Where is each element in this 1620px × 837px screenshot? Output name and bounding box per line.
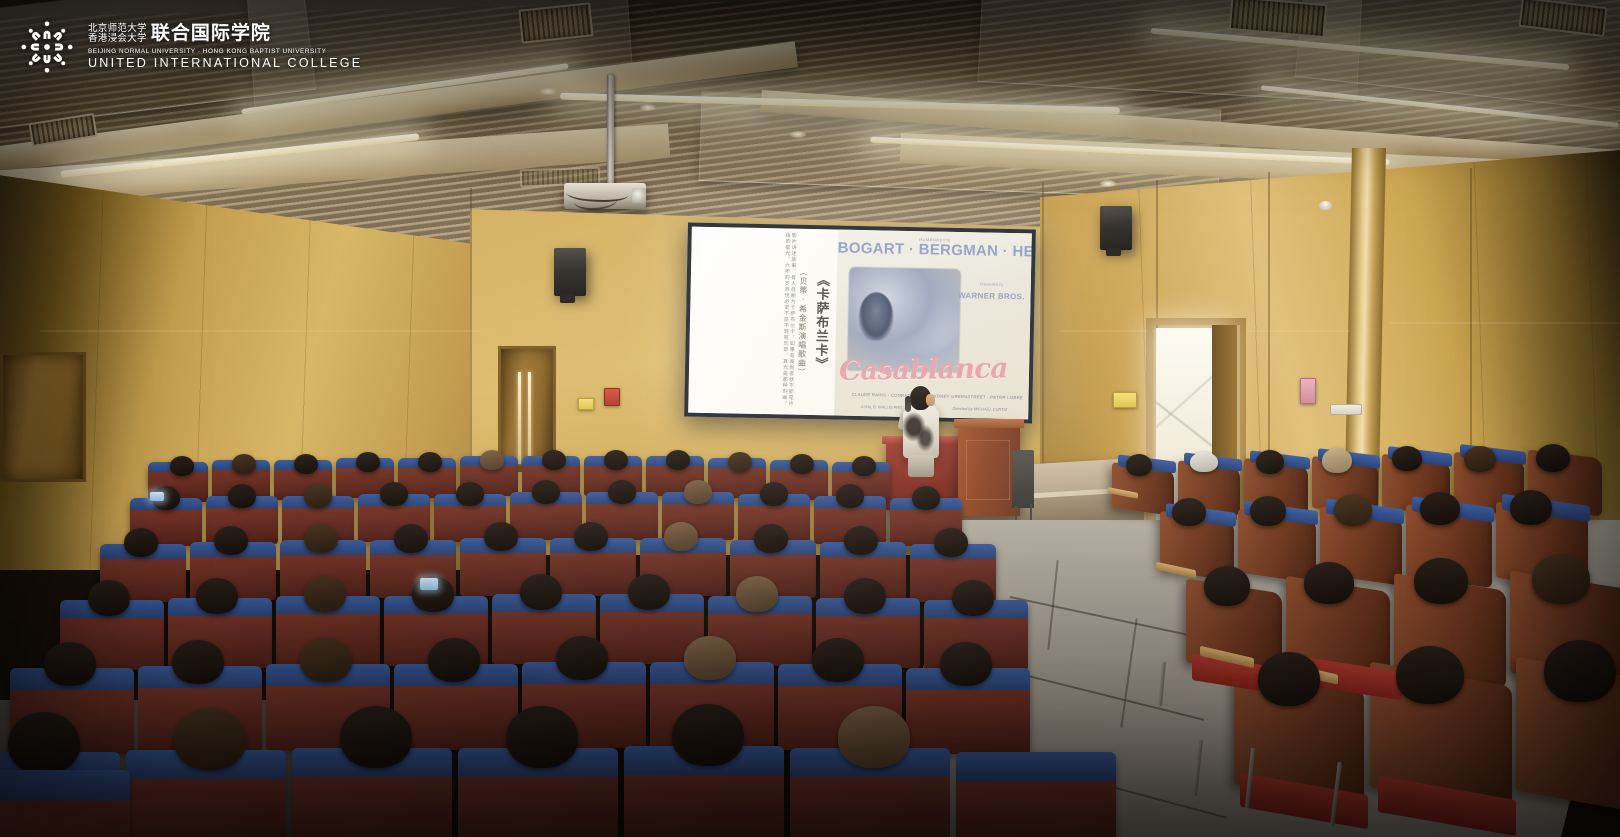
audience-head-with-cap [1190, 452, 1218, 472]
audience-head [300, 638, 352, 682]
audience-head [394, 524, 428, 553]
wall-seam [1390, 322, 1620, 324]
audience-head [8, 712, 80, 774]
watermark-chinese-main: 联合国际学院 [151, 24, 271, 43]
audience-head [608, 480, 636, 504]
watermark-english-main: UNITED INTERNATIONAL COLLEGE [88, 57, 362, 70]
audience-head [1464, 446, 1496, 472]
audience-head [1414, 558, 1468, 604]
audience-head [628, 574, 670, 610]
audience-head [418, 452, 442, 472]
projector-mount-pole [607, 75, 614, 185]
seat-headrest [956, 752, 1116, 781]
audience-head [520, 574, 562, 610]
watermark-english-small: BEIJING NORMAL UNIVERSITY · HONG KONG BA… [88, 49, 362, 56]
poster-title-text: Casablanca [839, 351, 1032, 387]
presenter-face [926, 394, 935, 406]
wall-speaker-icon [554, 248, 586, 296]
projector-lens-icon [632, 188, 646, 203]
audience-head [1256, 450, 1284, 474]
audience-head [88, 580, 130, 616]
audience-head [736, 576, 778, 612]
presentation-slide: 影片讲述故事，有人自喻为卡萨布兰卡，如果有高尚者就不能是片段的星光，六年的岁月也… [688, 227, 1032, 420]
audience-head [838, 706, 910, 768]
audience-head [790, 454, 814, 474]
audience-head [556, 636, 608, 680]
seat-leg [1193, 740, 1203, 796]
audience-head [1544, 640, 1616, 702]
audience-head [728, 452, 752, 472]
audience-head [294, 454, 318, 474]
audience-head [1420, 492, 1460, 525]
audience-head [232, 454, 256, 474]
seat-headrest [0, 770, 130, 801]
power-outlet-icon[interactable] [1330, 404, 1362, 415]
phone-screen-glow [420, 578, 438, 590]
poster-face-silhouette [859, 292, 894, 341]
audience-head [852, 456, 876, 476]
audience-head [684, 480, 712, 504]
audience-head [1126, 454, 1152, 476]
audience-head [1204, 566, 1250, 606]
audience-head [836, 484, 864, 508]
audience-head [1334, 494, 1372, 526]
audience-head [44, 642, 96, 686]
audience-head [174, 708, 246, 770]
casablanca-poster: HUMPHREY'S BOGART · BERGMAN · HENREID Pr… [834, 230, 1031, 420]
audience-head [574, 522, 608, 551]
audience-head [940, 642, 992, 686]
security-camera-icon [1319, 201, 1332, 210]
watermark-text: 北京师范大学 香港浸会大学 联合国际学院 BEIJING NORMAL UNIV… [88, 24, 362, 70]
audience-head [1532, 554, 1590, 604]
audience-head [484, 522, 518, 551]
audience-head [1536, 444, 1570, 472]
projection-screen: 影片讲述故事，有人自喻为卡萨布兰卡，如果有高尚者就不能是片段的星光，六年的岁月也… [684, 223, 1036, 424]
seat-row-front[interactable] [956, 752, 1116, 837]
audience-head [356, 452, 380, 472]
slide-body-text: 影片讲述故事，有人自喻为卡萨布兰卡，如果有高尚者就不能是片段的星光，六年的岁月也… [781, 232, 797, 411]
watermark: 北京师范大学 香港浸会大学 联合国际学院 BEIJING NORMAL UNIV… [18, 18, 362, 76]
wall-speaker-icon [1100, 206, 1132, 250]
audience-head [214, 526, 248, 555]
uic-snowflake-logo-icon [18, 18, 76, 76]
audience-head [506, 706, 578, 768]
lectern-top [954, 419, 1024, 428]
audience-head [672, 704, 744, 766]
audience-head [1172, 498, 1206, 526]
poster-presented-label: Presented by [958, 282, 1025, 288]
warning-sign-icon [1113, 392, 1137, 408]
audience-head [754, 524, 788, 553]
audience-head [664, 522, 698, 551]
slide-subtitle-text: （贝蒂·希金斯演唱歌曲） [796, 267, 809, 376]
wall-seam [40, 330, 480, 332]
audience-head [844, 578, 886, 614]
slide-text-column: 影片讲述故事，有人自喻为卡萨布兰卡，如果有高尚者就不能是片段的星光，六年的岁月也… [688, 227, 838, 416]
downlight-icon [540, 88, 556, 95]
audience-head [934, 528, 968, 557]
downlight-icon [790, 131, 806, 138]
audience-head [604, 450, 628, 470]
audience-head [1322, 448, 1352, 473]
audience-head [952, 580, 994, 616]
audience-head [428, 638, 480, 682]
audience-head [542, 450, 566, 470]
audience-head [532, 480, 560, 504]
audience-head [456, 482, 484, 506]
auditorium-photo: 影片讲述故事，有人自喻为卡萨布兰卡，如果有高尚者就不能是片段的星光，六年的岁月也… [0, 0, 1620, 837]
handheld-microphone-icon [905, 396, 911, 412]
audience-head [1510, 490, 1552, 525]
poster-studio-name: WARNER BROS. [958, 291, 1025, 301]
audience-seating [0, 440, 1620, 837]
audience-head [666, 450, 690, 470]
watermark-chinese: 北京师范大学 香港浸会大学 联合国际学院 [88, 24, 362, 43]
audience-head [684, 636, 736, 680]
poster-supporting-cast: CLAUDE RAINS · CONRAD VEIDT · SYDNEY GRE… [850, 392, 1024, 400]
audience-head [480, 450, 504, 470]
watermark-chinese-line2: 香港浸会大学 [88, 34, 147, 44]
warning-sign-icon [578, 398, 594, 410]
audience-head [228, 484, 256, 508]
audience-head [844, 526, 878, 555]
audience-head [170, 456, 194, 476]
audience-head [304, 524, 338, 553]
downlight-icon [1100, 180, 1116, 187]
seat-leg [1158, 662, 1166, 706]
poster-star-billing: HUMPHREY'S BOGART · BERGMAN · HENREID [838, 237, 1032, 261]
poster-stars-line: BOGART · BERGMAN · HENREID [838, 240, 1032, 262]
phone-screen-glow [150, 492, 164, 501]
wall-seam [1156, 180, 1158, 330]
poster-studio-credit: Presented by WARNER BROS. [958, 282, 1025, 304]
audience-head [812, 638, 864, 682]
audience-head [760, 482, 788, 506]
audience-head [340, 706, 412, 768]
audience-head [172, 640, 224, 684]
seat-row-front[interactable] [0, 770, 130, 837]
downlight-icon [150, 160, 166, 167]
audience-head [1392, 446, 1422, 471]
slide-title-text: 《卡萨布兰卡》 [810, 273, 831, 371]
audience-head [1304, 562, 1354, 604]
watermark-chinese-parents: 北京师范大学 香港浸会大学 [88, 24, 147, 43]
downlight-icon [640, 104, 656, 111]
audience-head [380, 482, 408, 506]
audience-head [1396, 646, 1464, 704]
poster-director-credit: Directed by MICHAEL CURTIZ [939, 405, 1020, 412]
fire-notice-sign-icon [604, 388, 620, 406]
audience-head [196, 578, 238, 614]
audience-head [912, 486, 940, 510]
audience-head [304, 576, 346, 612]
notice-sign-icon [1300, 378, 1316, 404]
audience-head [304, 484, 332, 508]
audience-head [1250, 496, 1286, 526]
audience-head [124, 528, 158, 557]
audience-head [1258, 652, 1320, 706]
